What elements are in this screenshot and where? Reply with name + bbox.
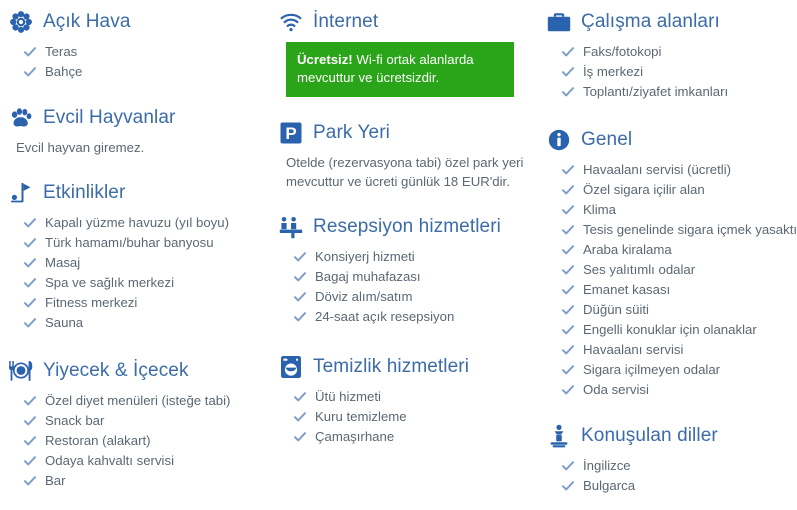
list-item: Odaya kahvaltı servisi [24, 451, 272, 471]
check-icon [24, 293, 36, 313]
check-icon [294, 307, 306, 327]
list-item-label: Masaj [45, 253, 80, 273]
section-title: Çalışma alanları [581, 12, 720, 33]
list-item: Araba kiralama [562, 240, 797, 260]
facility-list: Teras Bahçe [8, 42, 272, 82]
list-item-label: Havaalanı servisi [583, 340, 683, 360]
section-calisma-alanlari: Çalışma alanları Faks/fotokopi İş merkez… [546, 8, 797, 102]
section-temizlik-hizmetleri: Temizlik hizmetleri Ütü hizmeti Kuru tem… [278, 353, 540, 447]
facility-list: Faks/fotokopi İş merkezi Toplantı/ziyafe… [546, 42, 797, 102]
list-item-label: Faks/fotokopi [583, 42, 661, 62]
facility-list: İngilizce Bulgarca [546, 456, 797, 496]
list-item: Çamaşırhane [294, 427, 540, 447]
check-icon [24, 213, 36, 233]
list-item-label: Emanet kasası [583, 280, 670, 300]
section-internet: İnternet Ücretsiz! Wi-fi ortak alanlarda… [278, 8, 540, 97]
cutlery-icon [8, 358, 34, 384]
check-icon [294, 427, 306, 447]
facility-list: Havaalanı servisi (ücretli) Özel sigara … [546, 160, 797, 400]
list-item: İngilizce [562, 456, 797, 476]
section-title: İnternet [313, 12, 378, 33]
section-header: P Park Yeri [278, 119, 540, 147]
list-item: Sigara içilmeyen odalar [562, 360, 797, 380]
check-icon [24, 273, 36, 293]
section-header: İnternet [278, 8, 540, 36]
check-icon [562, 300, 574, 320]
check-icon [294, 407, 306, 427]
facility-list: Konsiyerj hizmeti Bagaj muhafazası Döviz… [278, 247, 540, 327]
check-icon [294, 247, 306, 267]
list-item: Snack bar [24, 411, 272, 431]
check-icon [294, 267, 306, 287]
section-header: Konuşulan diller [546, 422, 797, 450]
list-item-label: Teras [45, 42, 77, 62]
section-header: Çalışma alanları [546, 8, 797, 36]
list-item-label: Ses yalıtımlı odalar [583, 260, 695, 280]
list-item: İş merkezi [562, 62, 797, 82]
list-item-label: Fitness merkezi [45, 293, 137, 313]
list-item-label: Araba kiralama [583, 240, 672, 260]
washing-machine-icon [278, 354, 304, 380]
list-item-label: Kuru temizleme [315, 407, 407, 427]
list-item-label: Sauna [45, 313, 83, 333]
facilities-column-3: Çalışma alanları Faks/fotokopi İş merkez… [540, 8, 797, 510]
list-item: Kuru temizleme [294, 407, 540, 427]
list-item-label: Bagaj muhafazası [315, 267, 421, 287]
check-icon [24, 431, 36, 451]
check-icon [562, 82, 574, 102]
section-header: Temizlik hizmetleri [278, 353, 540, 381]
briefcase-icon [546, 9, 572, 35]
list-item: Ütü hizmeti [294, 387, 540, 407]
list-item-label: Ütü hizmeti [315, 387, 381, 407]
list-item-label: Bulgarca [583, 476, 635, 496]
facility-list: Kapalı yüzme havuzu (yıl boyu) Türk hama… [8, 213, 272, 333]
list-item-label: Özel diyet menüleri (isteğe tabi) [45, 391, 230, 411]
check-icon [24, 233, 36, 253]
list-item-label: Kapalı yüzme havuzu (yıl boyu) [45, 213, 229, 233]
list-item: Düğün süiti [562, 300, 797, 320]
check-icon [562, 340, 574, 360]
list-item: Toplantı/ziyafet imkanları [562, 82, 797, 102]
list-item-label: Bahçe [45, 62, 82, 82]
section-title: Yiyecek & İçecek [43, 361, 189, 382]
check-icon [562, 456, 574, 476]
list-item-label: İngilizce [583, 456, 631, 476]
list-item-label: İş merkezi [583, 62, 643, 82]
list-item-label: Snack bar [45, 411, 104, 431]
list-item: Masaj [24, 253, 272, 273]
list-item-label: Toplantı/ziyafet imkanları [583, 82, 728, 102]
list-item: Emanet kasası [562, 280, 797, 300]
check-icon [562, 260, 574, 280]
list-item-label: Sigara içilmeyen odalar [583, 360, 720, 380]
section-title: Etkinlikler [43, 183, 125, 204]
check-icon [562, 180, 574, 200]
section-title: Evcil Hayvanlar [43, 108, 175, 129]
internet-promo-banner: Ücretsiz! Wi-fi ortak alanlarda mevcuttu… [286, 42, 514, 97]
check-icon [294, 387, 306, 407]
section-title: Açık Hava [43, 12, 131, 33]
facilities-column-2: İnternet Ücretsiz! Wi-fi ortak alanlarda… [272, 8, 540, 510]
check-icon [294, 287, 306, 307]
list-item-label: Oda servisi [583, 380, 649, 400]
check-icon [24, 313, 36, 333]
list-item-label: Klima [583, 200, 616, 220]
section-header: Resepsiyon hizmetleri [278, 213, 540, 241]
list-item: Tesis genelinde sigara içmek yasaktır [562, 220, 797, 240]
section-header: Evcil Hayvanlar [8, 104, 272, 132]
list-item: Döviz alım/satım [294, 287, 540, 307]
check-icon [562, 200, 574, 220]
hotel-facilities-grid: Açık Hava Teras Bahçe [0, 0, 797, 510]
reception-desk-icon [278, 214, 304, 240]
list-item: Özel diyet menüleri (isteğe tabi) [24, 391, 272, 411]
section-title: Konuşulan diller [581, 426, 718, 447]
list-item-label: Konsiyerj hizmeti [315, 247, 415, 267]
section-title: Resepsiyon hizmetleri [313, 217, 501, 238]
list-item-label: Türk hamamı/buhar banyosu [45, 233, 214, 253]
list-item-label: Çamaşırhane [315, 427, 394, 447]
list-item: 24-saat açık resepsiyon [294, 307, 540, 327]
section-genel: Genel Havaalanı servisi (ücretli) Özel s… [546, 126, 797, 400]
check-icon [24, 471, 36, 491]
section-etkinlikler: Etkinlikler Kapalı yüzme havuzu (yıl boy… [8, 179, 272, 333]
check-icon [562, 360, 574, 380]
parking-icon: P [278, 120, 304, 146]
list-item: Bulgarca [562, 476, 797, 496]
promo-strong-text: Ücretsiz! [297, 52, 353, 67]
check-icon [24, 451, 36, 471]
section-header: Yiyecek & İçecek [8, 357, 272, 385]
flower-icon [8, 9, 34, 35]
list-item: Konsiyerj hizmeti [294, 247, 540, 267]
list-item-label: Tesis genelinde sigara içmek yasaktır [583, 220, 797, 240]
list-item: Fitness merkezi [24, 293, 272, 313]
section-note: Evcil hayvan giremez. [8, 138, 272, 157]
section-header: Genel [546, 126, 797, 154]
section-konusulan-diller: Konuşulan diller İngilizce Bulgarca [546, 422, 797, 496]
section-header: Etkinlikler [8, 179, 272, 207]
check-icon [24, 411, 36, 431]
section-resepsiyon-hizmetleri: Resepsiyon hizmetleri Konsiyerj hizmeti … [278, 213, 540, 327]
golf-flag-icon [8, 180, 34, 206]
section-header: Açık Hava [8, 8, 272, 36]
check-icon [24, 391, 36, 411]
check-icon [24, 42, 36, 62]
list-item: Bagaj muhafazası [294, 267, 540, 287]
language-person-icon [546, 423, 572, 449]
list-item-label: Bar [45, 471, 66, 491]
check-icon [562, 476, 574, 496]
section-yiyecek-icecek: Yiyecek & İçecek Özel diyet menüleri (is… [8, 357, 272, 491]
list-item: Teras [24, 42, 272, 62]
list-item-label: Restoran (alakart) [45, 431, 151, 451]
wifi-icon [278, 9, 304, 35]
section-title: Genel [581, 130, 632, 151]
list-item: Sauna [24, 313, 272, 333]
list-item: Faks/fotokopi [562, 42, 797, 62]
check-icon [562, 220, 574, 240]
section-evcil-hayvanlar: Evcil Hayvanlar Evcil hayvan giremez. [8, 104, 272, 157]
facilities-column-1: Açık Hava Teras Bahçe [0, 8, 272, 510]
paw-icon [8, 105, 34, 131]
check-icon [562, 42, 574, 62]
facility-list: Ütü hizmeti Kuru temizleme Çamaşırhane [278, 387, 540, 447]
list-item: Ses yalıtımlı odalar [562, 260, 797, 280]
list-item-label: Engelli konuklar için olanaklar [583, 320, 757, 340]
section-title: Temizlik hizmetleri [313, 357, 469, 378]
check-icon [562, 280, 574, 300]
check-icon [562, 320, 574, 340]
check-icon [562, 240, 574, 260]
section-acik-hava: Açık Hava Teras Bahçe [8, 8, 272, 82]
list-item-label: Odaya kahvaltı servisi [45, 451, 174, 471]
check-icon [562, 160, 574, 180]
list-item: Havaalanı servisi [562, 340, 797, 360]
list-item: Engelli konuklar için olanaklar [562, 320, 797, 340]
list-item: Bahçe [24, 62, 272, 82]
list-item-label: Özel sigara içilir alan [583, 180, 705, 200]
check-icon [24, 253, 36, 273]
list-item: Havaalanı servisi (ücretli) [562, 160, 797, 180]
list-item: Bar [24, 471, 272, 491]
svg-text:P: P [285, 124, 296, 143]
list-item: Restoran (alakart) [24, 431, 272, 451]
list-item-label: 24-saat açık resepsiyon [315, 307, 454, 327]
check-icon [562, 380, 574, 400]
list-item: Spa ve sağlık merkezi [24, 273, 272, 293]
list-item: Oda servisi [562, 380, 797, 400]
list-item: Klima [562, 200, 797, 220]
list-item-label: Düğün süiti [583, 300, 649, 320]
list-item: Özel sigara içilir alan [562, 180, 797, 200]
check-icon [562, 62, 574, 82]
facility-list: Özel diyet menüleri (isteğe tabi) Snack … [8, 391, 272, 491]
section-park-yeri: P Park Yeri Otelde (rezervasyona tabi) ö… [278, 119, 540, 191]
section-title: Park Yeri [313, 123, 390, 144]
list-item-label: Spa ve sağlık merkezi [45, 273, 174, 293]
list-item: Türk hamamı/buhar banyosu [24, 233, 272, 253]
section-note: Otelde (rezervasyona tabi) özel park yer… [278, 153, 526, 191]
list-item: Kapalı yüzme havuzu (yıl boyu) [24, 213, 272, 233]
check-icon [24, 62, 36, 82]
list-item-label: Döviz alım/satım [315, 287, 412, 307]
info-circle-icon [546, 127, 572, 153]
list-item-label: Havaalanı servisi (ücretli) [583, 160, 731, 180]
